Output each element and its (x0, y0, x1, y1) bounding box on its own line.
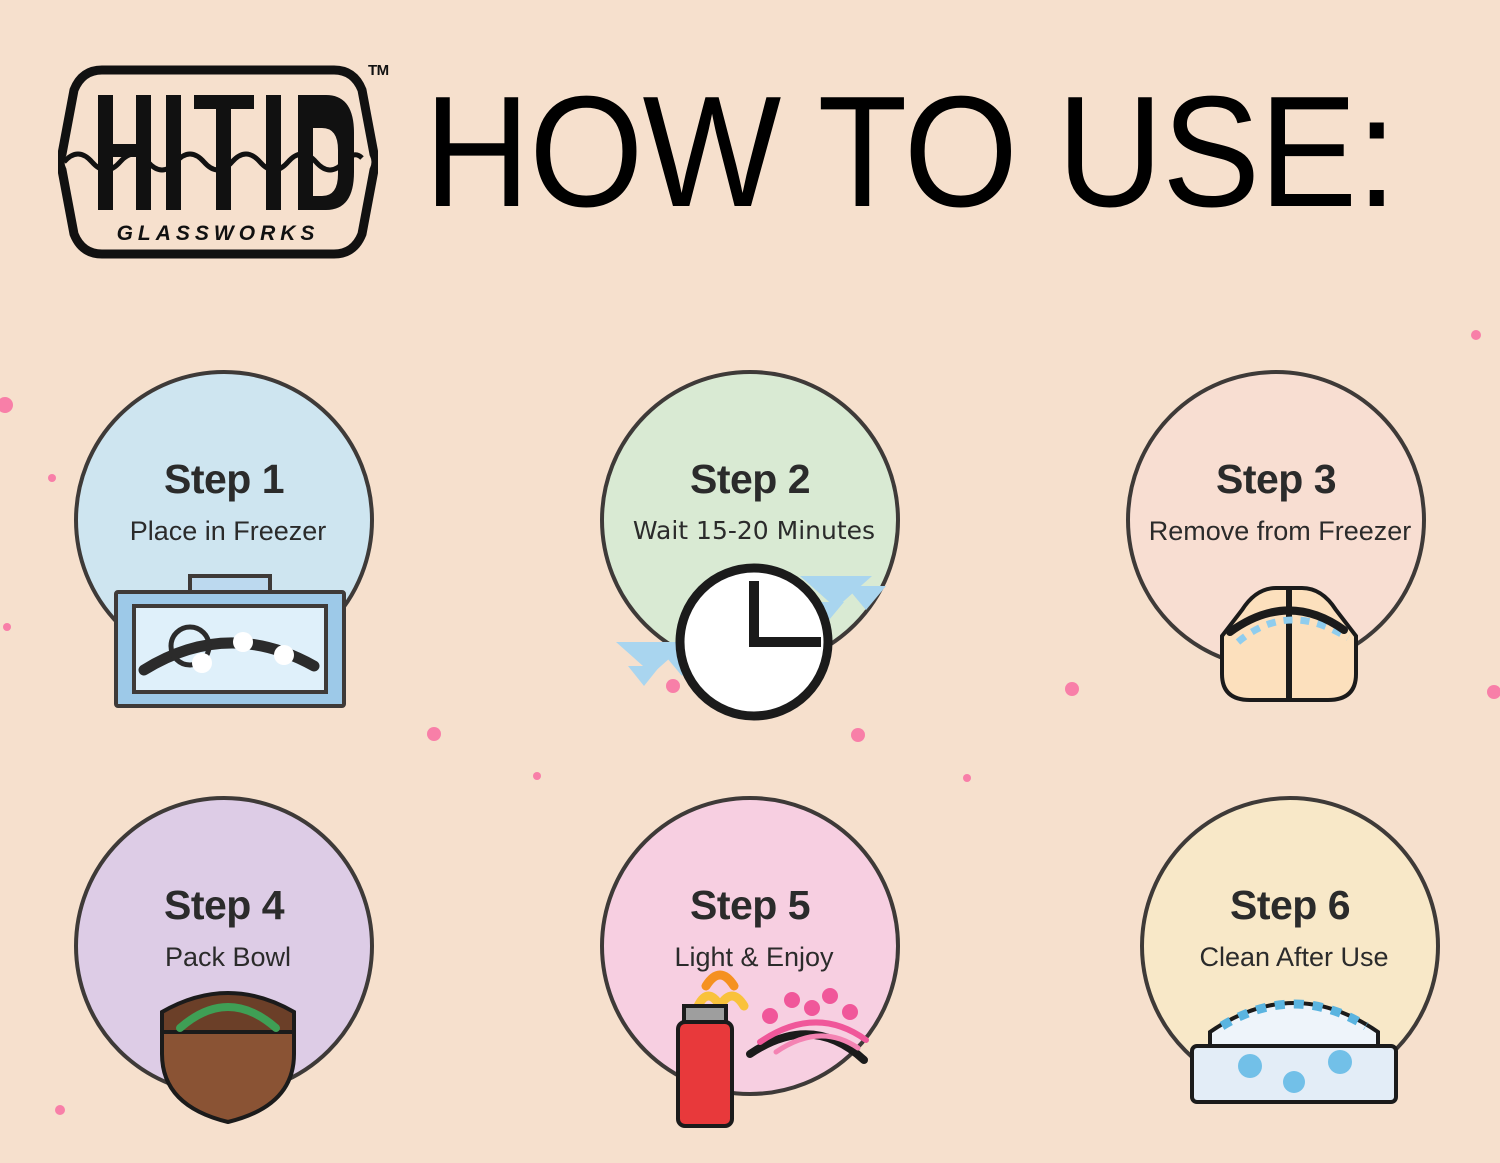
decor-dot (533, 772, 541, 780)
step-card-6[interactable]: Step 6 Clean After Use (1140, 796, 1440, 1096)
snow-arrow-left (616, 642, 702, 686)
step-card-3[interactable]: Step 3 Remove from Freezer (1126, 370, 1426, 670)
decor-dot (55, 1105, 65, 1115)
step-subtitle-5: Light & Enjoy (582, 942, 926, 973)
flame-outer (706, 975, 734, 986)
step-title-2: Step 2 (604, 456, 896, 503)
trademark-mark: TM (368, 62, 389, 79)
decor-dot (0, 397, 13, 413)
svg-text:GLASSWORKS: GLASSWORKS (117, 222, 320, 245)
decor-dot (48, 474, 56, 482)
decor-dot (427, 727, 441, 741)
decor-dot (666, 679, 680, 693)
step-card-5[interactable]: Step 5 Light & Enjoy (600, 796, 900, 1096)
step-title-5: Step 5 (604, 882, 896, 929)
hitide-badge-logo: GLASSWORKS (58, 62, 378, 262)
decor-dot (851, 728, 865, 742)
flame-inner (698, 996, 744, 1006)
snow-arrow-right (800, 576, 886, 620)
decor-dot (3, 623, 11, 631)
step-title-4: Step 4 (78, 882, 370, 929)
step-subtitle-4: Pack Bowl (56, 942, 400, 973)
step-title-3: Step 3 (1130, 456, 1422, 503)
step-card-4[interactable]: Step 4 Pack Bowl (74, 796, 374, 1096)
page-header: GLASSWORKS TM HOW TO USE: (0, 0, 1500, 300)
step-subtitle-1: Place in Freezer (56, 516, 400, 547)
step-title-6: Step 6 (1144, 882, 1436, 929)
step-card-2[interactable]: Step 2 Wait 15-20 Minutes (600, 370, 900, 670)
page-title: HOW TO USE: (424, 72, 1396, 232)
step-title-1: Step 1 (78, 456, 370, 503)
step-subtitle-6: Clean After Use (1122, 942, 1466, 973)
decor-dot (963, 774, 971, 782)
decor-dot (1065, 682, 1079, 696)
decor-dot (1487, 685, 1500, 699)
step-subtitle-2: Wait 15-20 Minutes (582, 516, 926, 545)
decor-dot (1471, 330, 1481, 340)
step-subtitle-3: Remove from Freezer (1108, 516, 1452, 547)
step-card-1[interactable]: Step 1 Place in Freezer (74, 370, 374, 670)
